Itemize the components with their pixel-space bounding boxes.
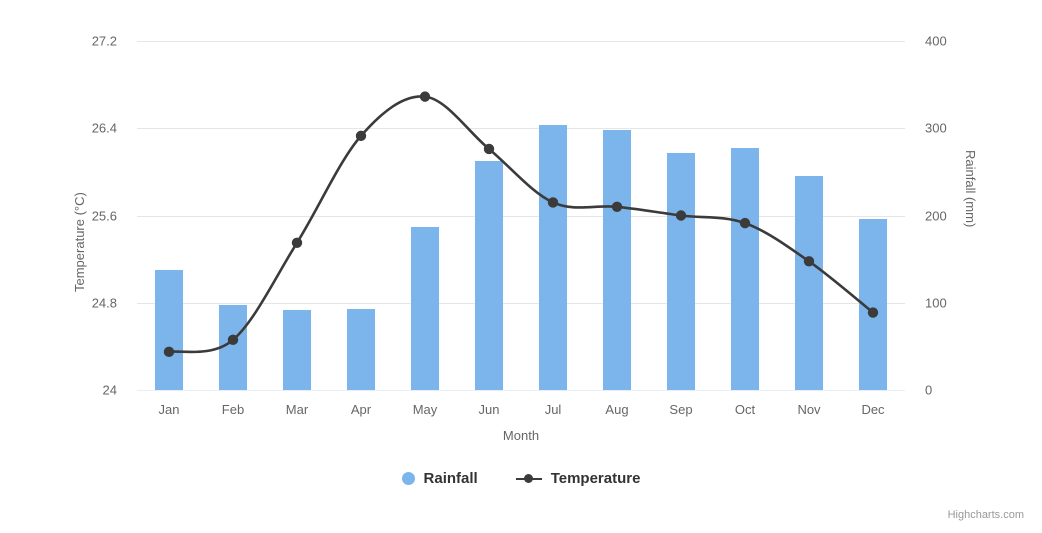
chart-legend: Rainfall Temperature (0, 470, 1042, 487)
temperature-point-nov[interactable]: Nov: 25.18 °C (804, 256, 814, 266)
highcharts-chart: Jan: 24.35 °CFeb: 24.46 °CMar: 25.35 °CA… (0, 0, 1042, 533)
x-axis-tick-may: May (413, 402, 438, 417)
temperature-point-sep[interactable]: Sep: 25.6 °C (676, 210, 686, 220)
x-axis-tick-nov: Nov (797, 402, 820, 417)
y-axis-left-tick: 24.8 (0, 295, 117, 310)
x-axis-tick-jun: Jun (479, 402, 500, 417)
y-axis-left-tick: 26.4 (0, 121, 117, 136)
temperature-point-apr[interactable]: Apr: 26.33 °C (356, 131, 366, 141)
temperature-point-aug[interactable]: Aug: 25.68 °C (612, 202, 622, 212)
x-axis-tick-oct: Oct (735, 402, 755, 417)
x-axis-tick-jul: Jul (545, 402, 562, 417)
circle-marker-icon (402, 472, 415, 485)
y-axis-right-tick: 200 (925, 208, 947, 223)
y-axis-left-tick: 25.6 (0, 208, 117, 223)
x-axis-tick-aug: Aug (605, 402, 628, 417)
x-axis-tick-mar: Mar (286, 402, 308, 417)
line-marker-icon (516, 472, 542, 485)
temperature-point-dec[interactable]: Dec: 24.71 °C (868, 307, 878, 317)
gridline (137, 390, 905, 391)
y-axis-right-title: Rainfall (mm) (963, 150, 978, 227)
y-axis-left-tick: 27.2 (0, 34, 117, 49)
x-axis-tick-feb: Feb (222, 402, 244, 417)
legend-label-temperature: Temperature (551, 470, 641, 487)
temperature-spline (169, 96, 873, 352)
y-axis-right-tick: 400 (925, 34, 947, 49)
x-axis-tick-apr: Apr (351, 402, 371, 417)
temperature-point-jun[interactable]: Jun: 26.21 °C (484, 144, 494, 154)
y-axis-left-title: Temperature (°C) (72, 192, 87, 292)
legend-item-temperature[interactable]: Temperature (516, 470, 641, 487)
x-axis-tick-sep: Sep (669, 402, 692, 417)
y-axis-right-tick: 100 (925, 295, 947, 310)
temperature-point-feb[interactable]: Feb: 24.46 °C (228, 335, 238, 345)
credits-link[interactable]: Highcharts.com (948, 509, 1024, 521)
temperature-line-series: Jan: 24.35 °CFeb: 24.46 °CMar: 25.35 °CA… (137, 41, 905, 390)
x-axis-tick-jan: Jan (159, 402, 180, 417)
temperature-point-jul[interactable]: Jul: 25.72 °C (548, 197, 558, 207)
x-axis-tick-dec: Dec (861, 402, 884, 417)
legend-label-rainfall: Rainfall (424, 470, 478, 487)
temperature-point-mar[interactable]: Mar: 25.35 °C (292, 238, 302, 248)
legend-item-rainfall[interactable]: Rainfall (402, 470, 478, 487)
x-axis-title: Month (0, 428, 1042, 443)
temperature-point-jan[interactable]: Jan: 24.35 °C (164, 347, 174, 357)
temperature-point-oct[interactable]: Oct: 25.53 °C (740, 218, 750, 228)
plot-area: Jan: 24.35 °CFeb: 24.46 °CMar: 25.35 °CA… (137, 41, 905, 390)
y-axis-right-tick: 0 (925, 383, 932, 398)
y-axis-left-tick: 24 (0, 383, 117, 398)
temperature-point-may[interactable]: May: 26.69 °C (420, 91, 430, 101)
y-axis-right-tick: 300 (925, 121, 947, 136)
